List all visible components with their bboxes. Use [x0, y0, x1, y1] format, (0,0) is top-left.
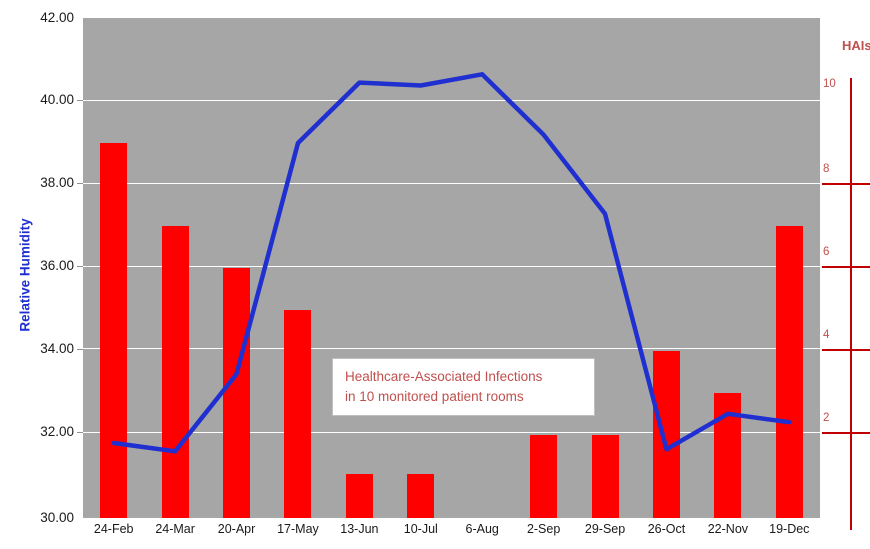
- annotation-textbox: Healthcare-Associated Infections in 10 m…: [332, 358, 595, 416]
- left-axis-tick-label: 34.00: [0, 341, 74, 356]
- x-axis-tick-label: 24-Mar: [155, 522, 195, 536]
- x-axis-tick-label: 24-Feb: [94, 522, 134, 536]
- right-axis-tick-label: 2: [823, 412, 829, 424]
- right-axis-title: HAIs: [842, 38, 870, 53]
- right-axis-tick-label: 4: [823, 329, 829, 341]
- x-axis-tick-label: 10-Jul: [404, 522, 438, 536]
- right-axis-spine: [850, 78, 852, 530]
- right-axis: HAIs 10 8 6 4 2: [820, 0, 870, 549]
- left-axis-tick-label: 32.00: [0, 424, 74, 439]
- x-axis-tick-label: 13-Jun: [340, 522, 378, 536]
- right-axis-tick-label: 10: [823, 78, 836, 90]
- annotation-line-2: in 10 monitored patient rooms: [345, 387, 584, 407]
- x-axis-tick-label: 26-Oct: [648, 522, 686, 536]
- x-axis-tick-label: 2-Sep: [527, 522, 560, 536]
- x-axis: 24-Feb24-Mar20-Apr17-May13-Jun10-Jul6-Au…: [83, 522, 820, 546]
- left-axis-tick-label: 30.00: [0, 510, 74, 525]
- x-axis-tick-label: 29-Sep: [585, 522, 625, 536]
- right-axis-tick-label: 8: [823, 163, 829, 175]
- right-axis-tick-label: 6: [823, 246, 829, 258]
- x-axis-tick-label: 19-Dec: [769, 522, 809, 536]
- right-axis-tick-mark: [822, 183, 870, 185]
- right-axis-tick-mark: [822, 266, 870, 268]
- x-axis-tick-label: 20-Apr: [218, 522, 256, 536]
- plot-area: [83, 18, 820, 518]
- left-axis-tick-label: 36.00: [0, 258, 74, 273]
- annotation-line-1: Healthcare-Associated Infections: [345, 367, 584, 387]
- x-axis-tick-label: 22-Nov: [708, 522, 748, 536]
- left-axis-tick-label: 40.00: [0, 92, 74, 107]
- left-axis-title: Relative Humidity: [18, 145, 33, 405]
- left-axis: 42.00 40.00 38.00 36.00 34.00 32.00 30.0…: [0, 0, 80, 549]
- left-axis-tick-label: 38.00: [0, 175, 74, 190]
- x-axis-tick-label: 17-May: [277, 522, 319, 536]
- x-axis-tick-label: 6-Aug: [466, 522, 499, 536]
- right-axis-tick-mark: [822, 432, 870, 434]
- line-series: [83, 18, 820, 518]
- left-axis-tick-label: 42.00: [0, 10, 74, 25]
- right-axis-tick-mark: [822, 349, 870, 351]
- chart-canvas: 42.00 40.00 38.00 36.00 34.00 32.00 30.0…: [0, 0, 870, 549]
